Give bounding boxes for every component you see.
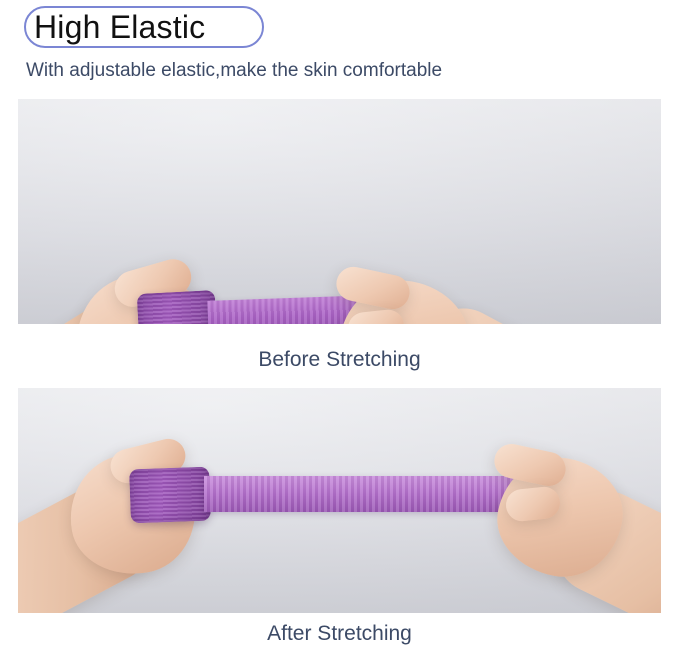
after-stretching-photo xyxy=(18,388,661,613)
caption-before-stretching: Before Stretching xyxy=(0,347,679,373)
page-subtitle: With adjustable elastic,make the skin co… xyxy=(26,58,442,84)
tape-roll-top xyxy=(137,290,218,324)
before-stretching-photo xyxy=(18,99,661,324)
header: High Elastic With adjustable elastic,mak… xyxy=(0,0,679,98)
tape-roll-bottom xyxy=(129,467,211,524)
product-feature-image: High Elastic With adjustable elastic,mak… xyxy=(0,0,679,650)
caption-after-stretching: After Stretching xyxy=(0,621,679,647)
tape-strip-bottom xyxy=(204,476,540,512)
page-title: High Elastic xyxy=(34,8,205,46)
